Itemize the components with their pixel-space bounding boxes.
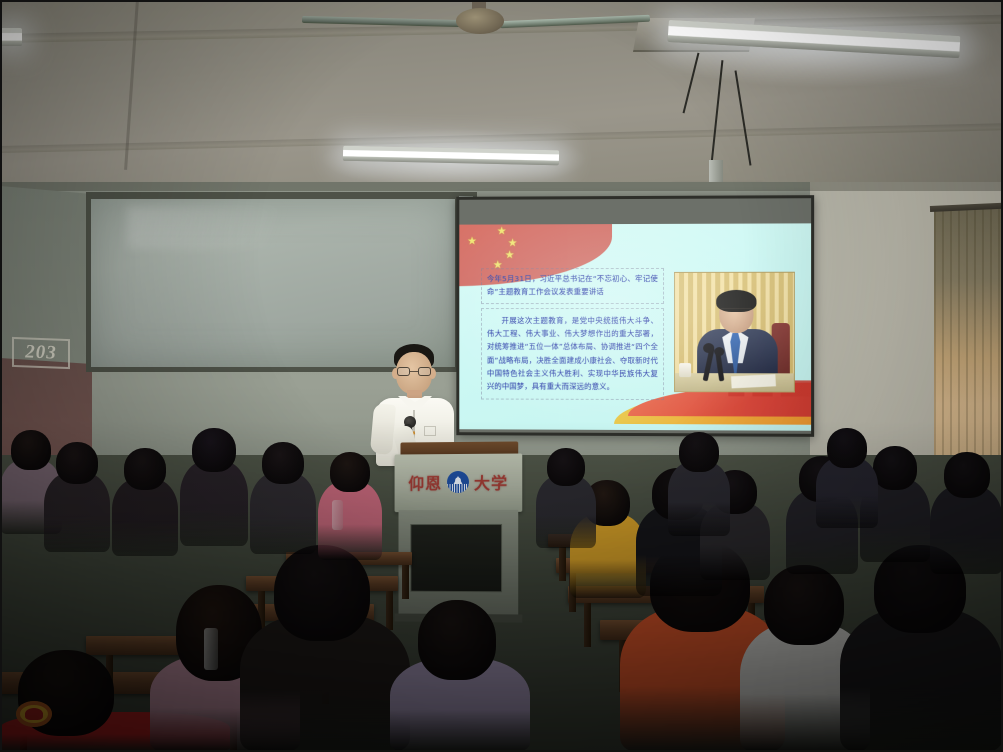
photo-teacup — [679, 363, 691, 377]
lectern: 仰恩 大学 — [395, 451, 523, 618]
presentation-slide: ★ ★ ★ ★ ★ 今年5月31日，习近平总书记在“不忘初心、牢记使命”主题教育… — [459, 223, 811, 430]
classroom-photo: 203 ★ ★ ★ ★ ★ 今年5月31日，习近平总书记在“不忘初心、牢记使命”… — [0, 0, 1003, 752]
lectern-front-panel: 仰恩 大学 — [395, 453, 523, 512]
student-right-row2-c-head — [827, 428, 867, 468]
slide-speech-photo — [674, 272, 795, 393]
student-left-row2-e — [250, 442, 316, 554]
desk-row4-right-leg — [559, 547, 566, 581]
student-red-badge-shirt-badge-icon — [16, 701, 52, 727]
flag-star-icon: ★ — [508, 238, 518, 249]
student-lavender-shirt — [390, 600, 530, 752]
window-curtain — [934, 208, 1003, 480]
lectern-branding: 仰恩 大学 — [395, 470, 523, 495]
student-pink-row2-head — [330, 452, 370, 492]
student-dark-row3-d-torso — [930, 485, 1003, 574]
student-left-row2-b-head — [56, 442, 98, 484]
student-right-row2-a-head — [547, 448, 585, 486]
student-left-row2-b — [44, 442, 110, 552]
whiteboard-glare — [127, 206, 327, 250]
photo-person-brow — [721, 308, 751, 314]
student-left-row2-e-head — [262, 442, 304, 484]
student-right-row2-a — [536, 448, 596, 548]
university-logo-icon — [447, 471, 469, 493]
student-right-row2-b — [668, 432, 730, 536]
student-white-back-head — [764, 565, 844, 645]
slide-body-text: 开展这次主题教育，是党中央统揽伟大斗争、伟大工程、伟大事业、伟大梦想作出的重大部… — [481, 308, 664, 400]
photo-microphone-head — [714, 347, 724, 356]
student-left-row2-b-torso — [44, 472, 110, 552]
student-red-badge-shirt-badge-emblem — [25, 708, 43, 720]
student-left-row2-c — [112, 448, 178, 556]
student-dark-row3-d — [930, 452, 1003, 574]
student-dark-center — [240, 545, 410, 752]
student-left-row2-c-head — [124, 448, 166, 490]
fluorescent-light-icon — [0, 28, 22, 46]
student-dark-row3-c-head — [873, 446, 917, 490]
glasses-lens — [397, 367, 410, 376]
fan-hub — [456, 8, 504, 34]
water-bottle — [204, 628, 218, 670]
presenter-shirt-pocket — [424, 426, 436, 436]
student-pink-row2-torso — [318, 481, 382, 560]
photo-document — [731, 374, 776, 388]
glasses-lens — [418, 367, 431, 376]
student-right-row2-b-torso — [668, 461, 730, 536]
room-number-sign: 203 — [12, 337, 70, 369]
projector-mount — [709, 160, 723, 182]
lectern-text-right: 大学 — [474, 470, 508, 494]
flag-star-icon: ★ — [497, 226, 507, 237]
student-pink-row2 — [318, 452, 382, 560]
desk-row2-right-leg — [584, 603, 591, 647]
projection-screen: ★ ★ ★ ★ ★ 今年5月31日，习近平总书记在“不忘初心、牢记使命”主题教育… — [456, 195, 814, 437]
lectern-text-left: 仰恩 — [408, 470, 442, 494]
student-right-row2-b-head — [679, 432, 719, 472]
photo-microphone-head — [703, 343, 714, 353]
lectern-dark-panel — [410, 524, 502, 592]
slide-title-text: 今年5月31日，习近平总书记在“不忘初心、牢记使命”主题教育工作会议发表重要讲话 — [481, 268, 664, 305]
flag-star-icon: ★ — [505, 250, 515, 261]
student-lavender-shirt-head — [418, 600, 496, 680]
flag-star-icon: ★ — [467, 236, 477, 247]
student-left-row2-d-torso — [180, 460, 248, 546]
wall-top-trim — [0, 182, 1003, 191]
student-left-row2-d — [180, 428, 248, 546]
glasses-icon — [397, 367, 431, 377]
student-left-row2-e-torso — [250, 472, 316, 554]
ceiling-fan-icon — [388, 0, 578, 40]
student-black-tee-right — [840, 545, 1003, 752]
student-right-row2-c — [816, 428, 878, 528]
glasses-bridge — [410, 371, 418, 372]
water-bottle — [332, 500, 343, 530]
room-number-label: 203 — [25, 341, 57, 364]
presenter-arm — [370, 403, 396, 455]
student-left-row2-d-head — [192, 428, 236, 472]
student-dark-row3-d-head — [944, 452, 990, 498]
